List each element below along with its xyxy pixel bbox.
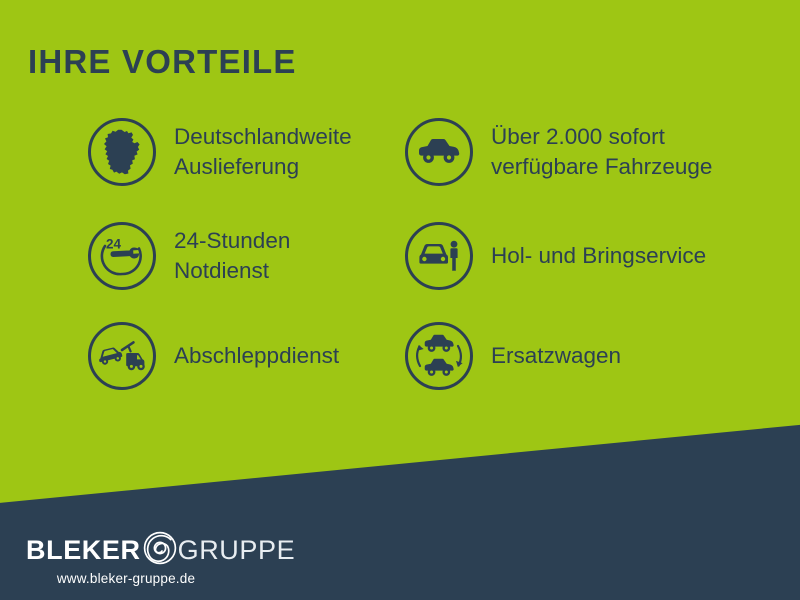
two-cars-exchange-icon bbox=[405, 322, 473, 390]
tow-truck-icon bbox=[88, 322, 156, 390]
spiral-swirl-logo-icon bbox=[143, 531, 177, 570]
slide-canvas: IHRE VORTEILE Deutschlandweite Ausliefer… bbox=[0, 0, 800, 600]
benefit-label: 24-Stunden Notdienst bbox=[174, 226, 290, 285]
benefit-label: Deutschlandweite Auslieferung bbox=[174, 122, 352, 181]
benefit-item-ersatzwagen: Ersatzwagen bbox=[405, 322, 621, 390]
benefit-label: Abschleppdienst bbox=[174, 341, 339, 371]
benefit-item-24-stunden-notdienst: 24 24-Stunden Notdienst bbox=[88, 222, 290, 290]
car-with-person-icon bbox=[405, 222, 473, 290]
page-title: IHRE VORTEILE bbox=[28, 44, 297, 80]
brand-logo: BLEKER GRUPPE www.bleker-gruppe.de bbox=[26, 533, 295, 586]
car-side-icon bbox=[405, 118, 473, 186]
benefit-item-abschleppdienst: Abschleppdienst bbox=[88, 322, 339, 390]
benefits-list: Deutschlandweite Auslieferung Über 2.000… bbox=[0, 110, 800, 410]
benefit-item-verfuegbare-fahrzeuge: Über 2.000 sofort verfügbare Fahrzeuge bbox=[405, 118, 712, 186]
benefit-item-hol-und-bringservice: Hol- und Bringservice bbox=[405, 222, 706, 290]
benefit-label: Ersatzwagen bbox=[491, 341, 621, 371]
website-url: www.bleker-gruppe.de bbox=[26, 571, 226, 586]
benefit-label: Über 2.000 sofort verfügbare Fahrzeuge bbox=[491, 122, 712, 181]
germany-map-icon bbox=[88, 118, 156, 186]
logo-text-bleker: BLEKER bbox=[26, 537, 141, 564]
icon-text-24: 24 bbox=[106, 237, 122, 252]
logo-text-gruppe: GRUPPE bbox=[178, 537, 296, 564]
benefit-label: Hol- und Bringservice bbox=[491, 241, 706, 271]
logo-wordmark: BLEKER GRUPPE bbox=[26, 533, 295, 567]
24-hour-wrench-icon: 24 bbox=[88, 222, 156, 290]
benefit-item-deutschlandweite-auslieferung: Deutschlandweite Auslieferung bbox=[88, 118, 352, 186]
